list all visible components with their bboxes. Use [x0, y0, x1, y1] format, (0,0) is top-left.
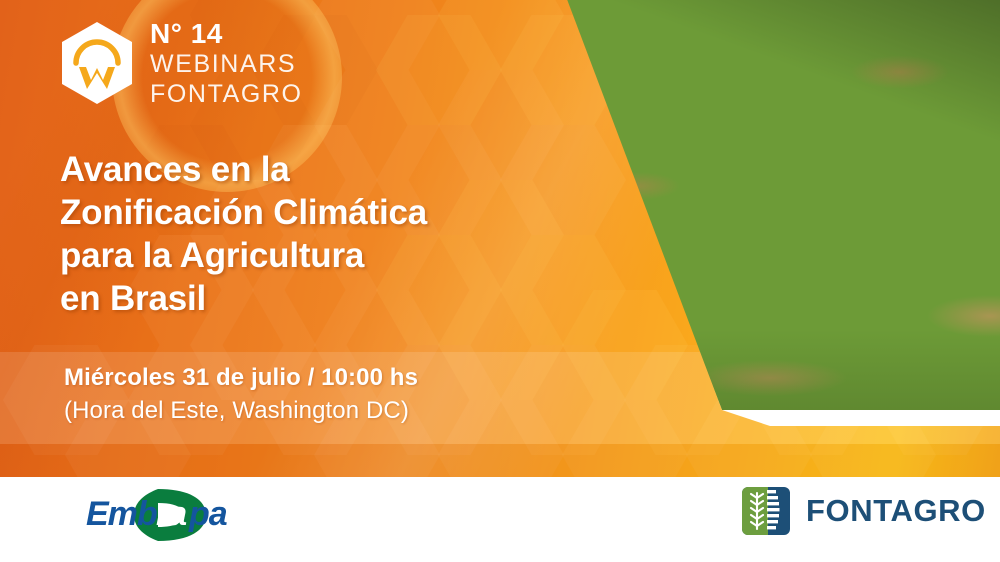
embrapa-logo: Emb ra pa [72, 483, 232, 547]
date-lower-band [0, 444, 1000, 477]
fontagro-wordmark: FONTAGRO [806, 493, 986, 529]
title-line-4: en Brasil [60, 279, 206, 318]
webinar-poster: N° 14 WEBINARS FONTAGRO Avances en la Zo… [0, 0, 1000, 562]
title-line-2: Zonificación Climática [60, 193, 427, 232]
webinar-series-line2: FONTAGRO [150, 81, 303, 108]
webinar-number: N° 14 [150, 20, 303, 48]
fontagro-wheat-gear-icon [742, 487, 790, 535]
svg-text:Emb: Emb [86, 495, 157, 533]
kicker-text: N° 14 WEBINARS FONTAGRO [150, 18, 303, 108]
svg-text:pa: pa [188, 495, 227, 533]
footer-logo-bar: Emb ra pa [0, 477, 1000, 562]
title-line-1: Avances en la [60, 150, 290, 189]
fontagro-logo: FONTAGRO [742, 487, 986, 535]
schedule-timezone: (Hora del Este, Washington DC) [64, 397, 418, 425]
title-line-3: para la Agricultura [60, 236, 364, 275]
schedule-datetime: Miércoles 31 de julio / 10:00 hs [64, 364, 418, 392]
webinar-kicker: N° 14 WEBINARS FONTAGRO [58, 18, 303, 108]
page-title: Avances en la Zonificación Climática par… [60, 148, 530, 320]
schedule-block: Miércoles 31 de julio / 10:00 hs (Hora d… [64, 364, 418, 425]
svg-text:ra: ra [156, 495, 186, 533]
webinar-series-line1: WEBINARS [150, 51, 303, 78]
webinars-fontagro-hexagon-w-logo [58, 20, 136, 106]
